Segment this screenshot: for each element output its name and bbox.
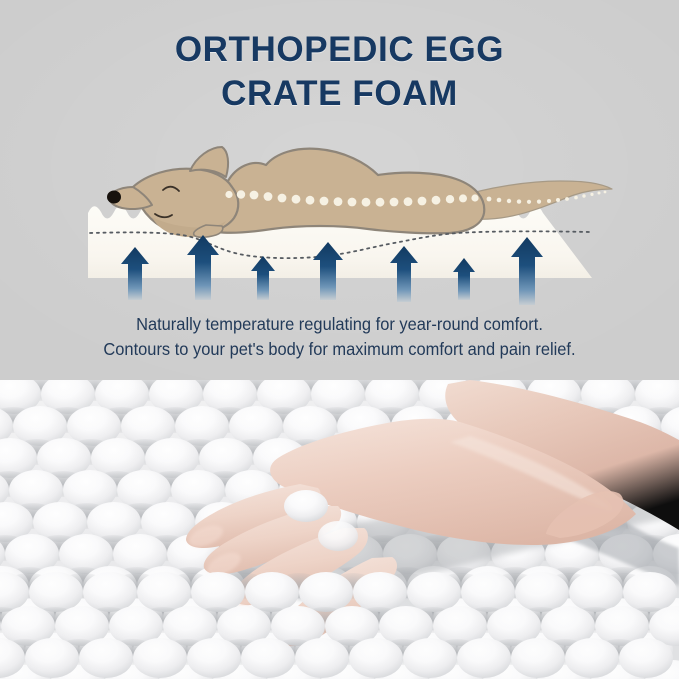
- product-infographic: ORTHOPEDIC EGG CRATE FOAM: [0, 0, 679, 679]
- dog-nose: [107, 191, 121, 204]
- dog-on-foam-illustration: [0, 125, 679, 310]
- benefit-line-2: Contours to your pet's body for maximum …: [20, 337, 658, 362]
- photo-vignette: [0, 380, 679, 679]
- title-line-2: CRATE FOAM: [0, 72, 679, 116]
- title-line-1: ORTHOPEDIC EGG: [0, 28, 679, 72]
- foam-photo-svg: [0, 380, 679, 679]
- top-info-panel: ORTHOPEDIC EGG CRATE FOAM: [0, 0, 679, 380]
- benefit-line-1: Naturally temperature regulating for yea…: [20, 312, 658, 337]
- illustration-svg: [0, 125, 679, 310]
- foam-photo: [0, 380, 679, 679]
- benefit-copy: Naturally temperature regulating for yea…: [0, 312, 679, 362]
- page-title: ORTHOPEDIC EGG CRATE FOAM: [0, 28, 679, 116]
